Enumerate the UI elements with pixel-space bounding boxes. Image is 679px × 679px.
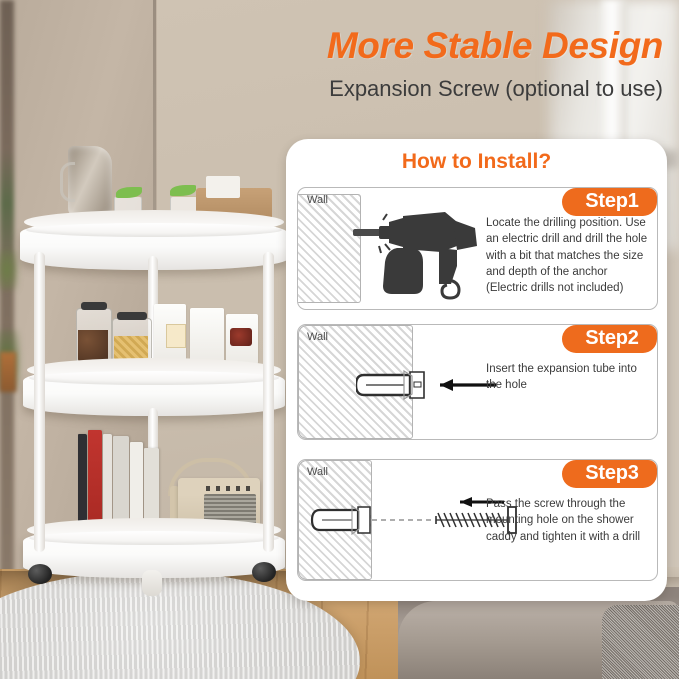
step-3-badge: Step3 xyxy=(562,460,657,488)
step-2-badge: Step2 xyxy=(562,325,657,353)
step-1-badge: Step1 xyxy=(562,188,657,216)
dried-berries xyxy=(230,328,252,346)
step-1-text: Locate the drilling position. Use an ele… xyxy=(486,215,652,297)
wall-label-3: Wall xyxy=(307,466,328,478)
electric-drill-icon xyxy=(353,202,483,302)
cart-center-foot xyxy=(142,570,162,596)
wall-label-2: Wall xyxy=(307,331,328,343)
cart-shelf-middle-lip xyxy=(29,371,279,385)
sofa-cushion xyxy=(602,605,679,679)
radio-knobs xyxy=(206,486,252,491)
storage-jar-a-contents xyxy=(78,330,108,362)
caster-wheel-right xyxy=(252,562,276,582)
step-3-text: Pass the screw through the mounting hole… xyxy=(486,496,652,545)
cart-post-left xyxy=(34,252,45,552)
cart-shelf-bottom-lip xyxy=(29,531,279,545)
snack-pouch-b xyxy=(190,308,224,364)
step-card-2: Wall Insert the expansion tube into the … xyxy=(297,324,658,440)
page-subtitle: Expansion Screw (optional to use) xyxy=(183,76,663,102)
plant-leaf-upper xyxy=(0,250,18,290)
step-2-text: Insert the expansion tube into the hole xyxy=(486,361,652,394)
caster-wheel-left xyxy=(28,564,52,584)
step-card-1: Wall Locate the drilling xyxy=(297,187,658,310)
white-box xyxy=(206,176,240,198)
panel-heading: How to Install? xyxy=(286,150,667,174)
cart-post-right xyxy=(263,252,274,552)
door-warm-strip xyxy=(0,352,16,392)
how-to-install-panel: How to Install? Wall xyxy=(286,139,667,601)
pouch-label-tag xyxy=(166,324,186,348)
step-card-3: Wall Pass the screw through the mo xyxy=(297,459,658,581)
page-title: More Stable Design xyxy=(183,25,663,67)
corner-trolley-cart xyxy=(20,196,288,596)
glass-pitcher xyxy=(68,146,112,218)
wall-block-1 xyxy=(298,194,361,303)
product-infographic: More Stable Design Expansion Screw (opti… xyxy=(0,0,679,679)
wall-label-1: Wall xyxy=(307,194,328,206)
cart-shelf-top-lip xyxy=(26,223,282,237)
